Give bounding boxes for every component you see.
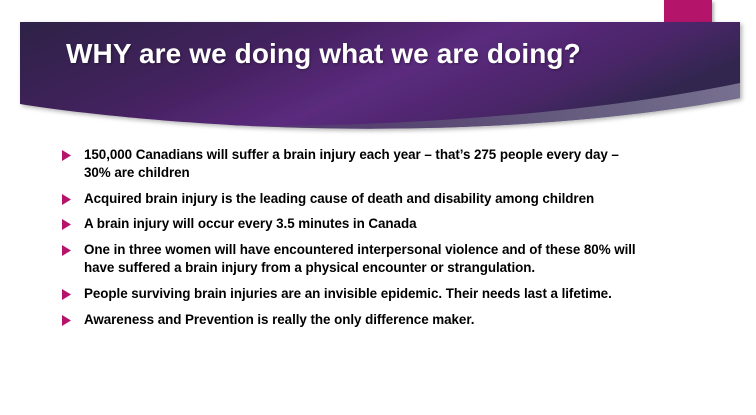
triangle-right-icon [62,311,84,326]
slide-title: WHY are we doing what we are doing? [66,36,586,73]
triangle-right-icon [62,241,84,256]
list-item: Acquired brain injury is the leading cau… [62,190,642,208]
triangle-right-icon [62,285,84,300]
list-item-text: Acquired brain injury is the leading cau… [84,190,642,208]
triangle-right-icon [62,215,84,230]
list-item-text: A brain injury will occur every 3.5 minu… [84,215,642,233]
list-item-text: People surviving brain injuries are an i… [84,285,642,303]
list-item: A brain injury will occur every 3.5 minu… [62,215,642,233]
list-item: 150,000 Canadians will suffer a brain in… [62,146,642,182]
triangle-right-icon [62,146,84,161]
list-item: One in three women will have encountered… [62,241,642,277]
list-item: People surviving brain injuries are an i… [62,285,642,303]
triangle-right-icon [62,190,84,205]
slide-header-banner: WHY are we doing what we are doing? [0,0,756,136]
list-item: Awareness and Prevention is really the o… [62,311,642,329]
bullet-list: 150,000 Canadians will suffer a brain in… [62,146,642,337]
list-item-text: Awareness and Prevention is really the o… [84,311,642,329]
list-item-text: One in three women will have encountered… [84,241,642,277]
slide-canvas: WHY are we doing what we are doing? 150,… [0,0,756,415]
list-item-text: 150,000 Canadians will suffer a brain in… [84,146,642,182]
